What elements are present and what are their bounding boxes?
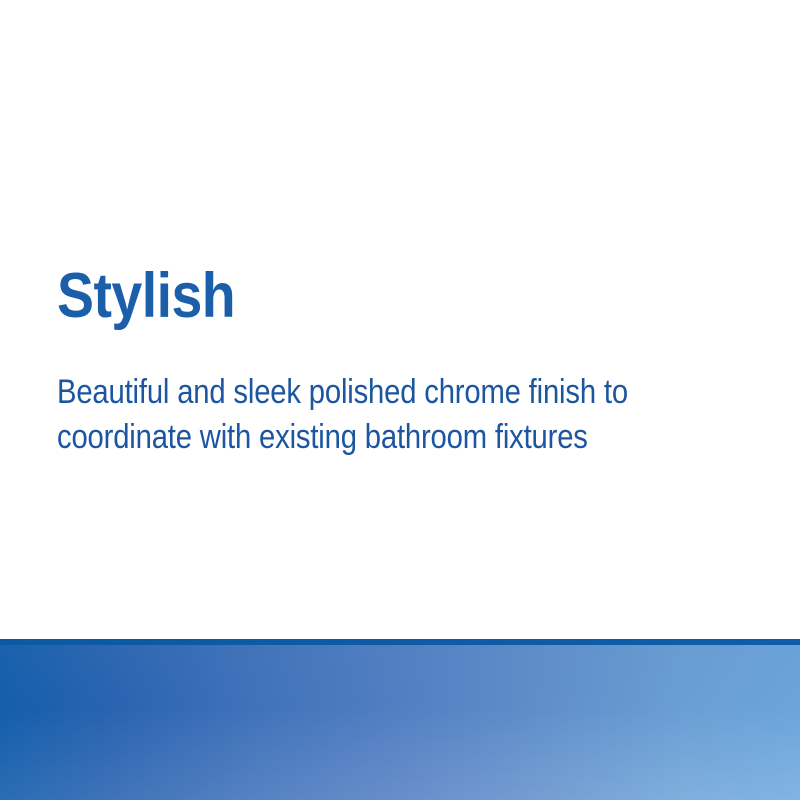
description-line: Beautiful and sleek polished chrome fini… xyxy=(57,370,659,415)
footer-banner xyxy=(0,639,800,800)
text-content-block: Stylish Beautiful and sleek polished chr… xyxy=(57,262,757,460)
page-title: Stylish xyxy=(57,262,673,330)
slide-canvas: Stylish Beautiful and sleek polished chr… xyxy=(0,0,800,800)
feature-description: Beautiful and sleek polished chrome fini… xyxy=(57,370,757,460)
banner-sheen-overlay xyxy=(0,645,800,800)
banner-gradient-fill xyxy=(0,645,800,800)
description-line: coordinate with existing bathroom fixtur… xyxy=(57,415,659,460)
